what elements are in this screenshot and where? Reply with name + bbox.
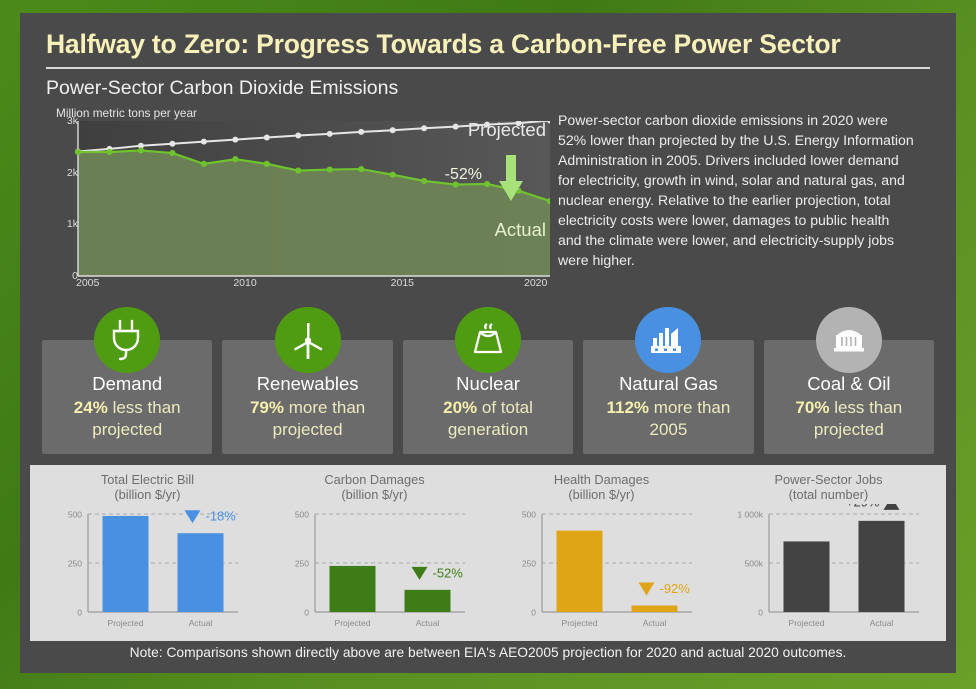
mini-y-tick-label: 250 bbox=[521, 558, 535, 568]
data-point bbox=[295, 168, 301, 174]
mini-delta-label: -52% bbox=[432, 565, 463, 580]
badge-natural-gas bbox=[635, 307, 701, 373]
factory-icon bbox=[647, 322, 689, 358]
line-chart-svg bbox=[48, 121, 550, 283]
x-tick-label: 2020 bbox=[524, 277, 547, 289]
mini-bar-svg: 0250500ProjectedActual-52% bbox=[269, 504, 481, 636]
data-point bbox=[390, 127, 396, 133]
series-label-projected: Projected bbox=[468, 119, 546, 141]
badge-renewables bbox=[275, 307, 341, 373]
emissions-line-chart: 01k2k3k Projected Actual -52% 2005201020… bbox=[48, 121, 550, 301]
down-triangle-icon bbox=[184, 510, 200, 523]
data-point bbox=[484, 181, 490, 187]
data-point bbox=[169, 150, 175, 156]
mini-bar-svg: 0500k1 000kProjectedActual+29% bbox=[723, 504, 935, 636]
x-tick-label: 2010 bbox=[233, 277, 256, 289]
bar bbox=[102, 516, 148, 612]
y-tick-label: 2k bbox=[67, 167, 78, 179]
section-subtitle: Power-Sector Carbon Dioxide Emissions bbox=[46, 77, 930, 100]
mini-chart-title-line: Power-Sector Jobs bbox=[774, 472, 882, 487]
data-point bbox=[358, 166, 364, 172]
card-title-natural-gas: Natural Gas bbox=[589, 373, 747, 395]
data-point bbox=[327, 166, 333, 172]
mini-y-tick-label: 0 bbox=[304, 607, 309, 617]
page-title: Halfway to Zero: Progress Towards a Carb… bbox=[46, 29, 930, 60]
coal-car-icon bbox=[828, 323, 870, 357]
metric-card-nuclear[interactable]: Nuclear 20% of total generation bbox=[403, 307, 573, 454]
x-axis-tick-labels: 2005201020152020 bbox=[48, 277, 550, 293]
mini-x-tick-label: Actual bbox=[188, 618, 212, 628]
title-divider bbox=[46, 67, 930, 69]
card-value-coal-oil: 70% bbox=[795, 398, 829, 417]
card-title-demand: Demand bbox=[48, 373, 206, 395]
mini-x-tick-label: Projected bbox=[334, 618, 370, 628]
metric-card-coal-oil[interactable]: Coal & Oil 70% less than projected bbox=[764, 307, 934, 454]
card-text-natural-gas: more than 2005 bbox=[650, 398, 731, 439]
mini-y-tick-label: 0 bbox=[531, 607, 536, 617]
data-point bbox=[327, 131, 333, 137]
data-point bbox=[295, 132, 301, 138]
metric-card-natural-gas[interactable]: Natural Gas 112% more than 2005 bbox=[583, 307, 753, 454]
bar bbox=[404, 590, 450, 612]
mini-chart-title: Health Damages(billion $/yr) bbox=[554, 472, 649, 502]
mini-chart-total-electric-bill: Total Electric Bill(billion $/yr)0250500… bbox=[34, 472, 261, 637]
down-triangle-icon bbox=[638, 582, 654, 595]
data-point bbox=[106, 149, 112, 155]
wind-turbine-icon bbox=[288, 319, 328, 361]
data-point bbox=[453, 124, 459, 130]
mini-y-tick-label: 1 000k bbox=[737, 509, 763, 519]
y-tick-label: 3k bbox=[67, 115, 78, 127]
x-tick-label: 2005 bbox=[76, 277, 99, 289]
plug-icon bbox=[107, 319, 147, 361]
emissions-delta-label: -52% bbox=[445, 166, 482, 184]
chart-units-label: Million metric tons per year bbox=[56, 106, 550, 120]
mini-chart-subtitle: (billion $/yr) bbox=[324, 487, 424, 502]
mini-chart-subtitle: (total number) bbox=[774, 487, 882, 502]
footnote: Note: Comparisons shown directly above a… bbox=[30, 645, 946, 660]
emissions-chart-column: Million metric tons per year 01k bbox=[20, 104, 550, 301]
metric-card-row: Demand 24% less than projected bbox=[42, 307, 934, 454]
mini-bar-svg: 0250500ProjectedActual-92% bbox=[496, 504, 708, 636]
mini-x-tick-label: Actual bbox=[869, 618, 893, 628]
card-title-coal-oil: Coal & Oil bbox=[770, 373, 928, 395]
mini-chart-subtitle: (billion $/yr) bbox=[101, 487, 194, 502]
bar bbox=[631, 605, 677, 611]
data-point bbox=[201, 139, 207, 145]
card-title-renewables: Renewables bbox=[228, 373, 386, 395]
badge-coal-oil bbox=[816, 307, 882, 373]
bar bbox=[556, 530, 602, 611]
mini-y-tick-label: 0 bbox=[77, 607, 82, 617]
data-point bbox=[358, 129, 364, 135]
badge-nuclear bbox=[455, 307, 521, 373]
data-point bbox=[232, 156, 238, 162]
mini-chart-title: Total Electric Bill(billion $/yr) bbox=[101, 472, 194, 502]
mini-chart-power-sector-jobs: Power-Sector Jobs(total number)0500k1 00… bbox=[715, 472, 942, 637]
mini-bar-svg: 0250500ProjectedActual-18% bbox=[42, 504, 254, 636]
up-triangle-icon bbox=[883, 504, 899, 510]
mini-x-tick-label: Actual bbox=[415, 618, 439, 628]
data-point bbox=[390, 172, 396, 178]
mini-chart-title-line: Carbon Damages bbox=[324, 472, 424, 487]
cooling-tower-icon bbox=[467, 320, 509, 360]
data-point bbox=[264, 161, 270, 167]
bar bbox=[858, 521, 904, 612]
data-point bbox=[421, 178, 427, 184]
down-triangle-icon bbox=[411, 567, 427, 580]
bar bbox=[329, 566, 375, 612]
mini-y-tick-label: 250 bbox=[294, 558, 308, 568]
data-point bbox=[264, 135, 270, 141]
summary-paragraph: Power-sector carbon dioxide emissions in… bbox=[550, 104, 930, 301]
mini-delta-label: -18% bbox=[205, 508, 236, 523]
bar bbox=[783, 541, 829, 612]
data-point bbox=[201, 161, 207, 167]
mini-delta-label: -92% bbox=[659, 581, 690, 596]
card-value-renewables: 79% bbox=[250, 398, 284, 417]
mini-y-tick-label: 500 bbox=[294, 509, 308, 519]
mini-chart-carbon-damages: Carbon Damages(billion $/yr)0250500Proje… bbox=[261, 472, 488, 637]
mini-y-tick-label: 500 bbox=[67, 509, 81, 519]
mini-chart-title: Carbon Damages(billion $/yr) bbox=[324, 472, 424, 502]
badge-demand bbox=[94, 307, 160, 373]
data-point bbox=[169, 141, 175, 147]
card-stat-natural-gas: 112% more than 2005 bbox=[589, 397, 747, 441]
upper-section: Million metric tons per year 01k bbox=[20, 104, 956, 301]
card-value-natural-gas: 112% bbox=[607, 398, 650, 417]
mini-chart-subtitle: (billion $/yr) bbox=[554, 487, 649, 502]
card-stat-demand: 24% less than projected bbox=[48, 397, 206, 441]
mini-chart-title-line: Health Damages bbox=[554, 472, 649, 487]
data-point bbox=[232, 137, 238, 143]
mini-delta-label: +29% bbox=[845, 504, 879, 509]
card-stat-nuclear: 20% of total generation bbox=[409, 397, 567, 441]
metric-card-renewables[interactable]: Renewables 79% more than projected bbox=[222, 307, 392, 454]
mini-chart-title: Power-Sector Jobs(total number) bbox=[774, 472, 882, 502]
metric-card-demand[interactable]: Demand 24% less than projected bbox=[42, 307, 212, 454]
mini-y-tick-label: 500k bbox=[744, 558, 763, 568]
mini-y-tick-label: 0 bbox=[758, 607, 763, 617]
mini-x-tick-label: Projected bbox=[561, 618, 597, 628]
series-label-actual: Actual bbox=[495, 219, 546, 241]
mini-chart-health-damages: Health Damages(billion $/yr)0250500Proje… bbox=[488, 472, 715, 637]
card-value-demand: 24% bbox=[74, 398, 108, 417]
mini-x-tick-label: Projected bbox=[788, 618, 824, 628]
bar bbox=[177, 533, 223, 612]
mini-x-tick-label: Projected bbox=[107, 618, 143, 628]
mini-y-tick-label: 500 bbox=[521, 509, 535, 519]
mini-x-tick-label: Actual bbox=[642, 618, 666, 628]
card-text-renewables: more than projected bbox=[273, 398, 366, 439]
infographic-board: Halfway to Zero: Progress Towards a Carb… bbox=[20, 13, 956, 673]
mini-y-tick-label: 250 bbox=[67, 558, 81, 568]
card-title-nuclear: Nuclear bbox=[409, 373, 567, 395]
x-tick-label: 2015 bbox=[391, 277, 414, 289]
comparison-charts-panel: Total Electric Bill(billion $/yr)0250500… bbox=[30, 465, 946, 641]
card-value-nuclear: 20% bbox=[443, 398, 477, 417]
card-stat-renewables: 79% more than projected bbox=[228, 397, 386, 441]
y-axis-tick-labels: 01k2k3k bbox=[48, 121, 78, 276]
mini-chart-title-line: Total Electric Bill bbox=[101, 472, 194, 487]
card-stat-coal-oil: 70% less than projected bbox=[770, 397, 928, 441]
data-point bbox=[421, 125, 427, 131]
data-point bbox=[138, 147, 144, 153]
y-tick-label: 1k bbox=[67, 218, 78, 230]
down-arrow-icon bbox=[498, 155, 524, 203]
